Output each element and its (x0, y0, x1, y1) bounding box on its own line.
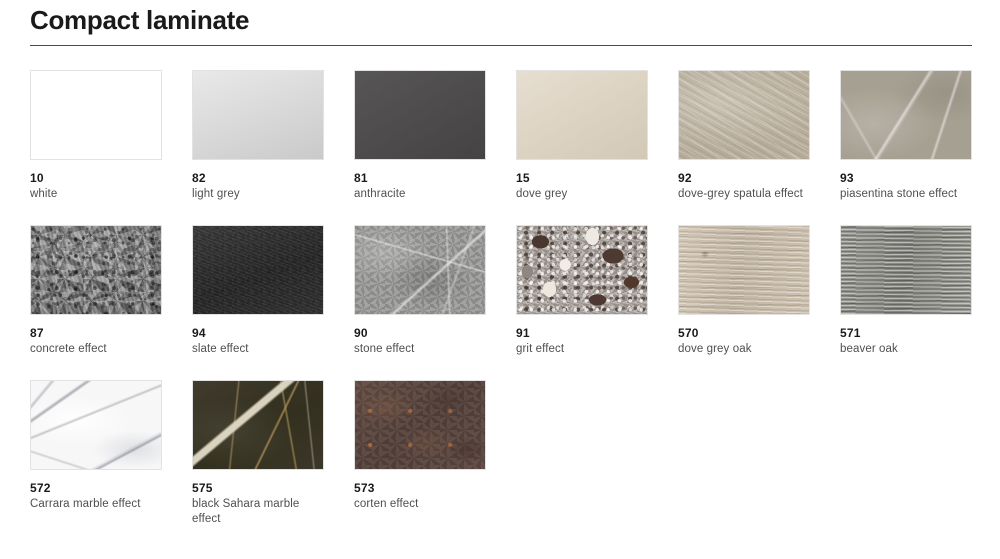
swatch-texture (31, 226, 161, 314)
swatch-cell[interactable]: 92dove-grey spatula effect (678, 70, 828, 202)
swatch-sample[interactable] (354, 380, 486, 470)
swatch-texture (31, 71, 161, 159)
swatch-texture (679, 71, 809, 159)
swatch-sample[interactable] (678, 225, 810, 315)
swatch-code: 571 (840, 326, 990, 340)
swatch-cell[interactable]: 570dove grey oak (678, 225, 828, 357)
swatch-sample[interactable] (192, 225, 324, 315)
swatch-code: 575 (192, 481, 324, 495)
swatch-cell[interactable]: 10white (30, 70, 162, 202)
swatch-texture (193, 71, 323, 159)
swatch-name: dove grey oak (678, 342, 828, 357)
swatch-code: 570 (678, 326, 828, 340)
swatch-texture (841, 71, 971, 159)
page-header: Compact laminate (30, 4, 972, 46)
swatch-texture (355, 381, 485, 469)
swatch-sample[interactable] (30, 225, 162, 315)
swatch-cell[interactable]: 87concrete effect (30, 225, 162, 357)
swatch-sample[interactable] (678, 70, 810, 160)
swatch-row-3: 572Carrara marble effect575black Sahara … (30, 380, 980, 540)
swatch-code: 94 (192, 326, 324, 340)
swatch-name: black Sahara marble effect (192, 497, 324, 527)
swatch-code: 81 (354, 171, 486, 185)
swatch-name: white (30, 187, 162, 202)
swatch-texture (517, 226, 647, 314)
page-title: Compact laminate (30, 4, 972, 45)
swatch-cell[interactable]: 15dove grey (516, 70, 648, 202)
swatch-texture (679, 226, 809, 314)
swatch-code: 90 (354, 326, 486, 340)
swatch-row-1: 10white82light grey81anthracite15dove gr… (30, 70, 980, 225)
swatch-texture (517, 71, 647, 159)
swatch-cell[interactable]: 93piasentina stone effect (840, 70, 990, 202)
swatch-code: 93 (840, 171, 990, 185)
swatch-name: grit effect (516, 342, 648, 357)
swatch-sample[interactable] (840, 70, 972, 160)
swatch-sample[interactable] (516, 225, 648, 315)
swatch-name: light grey (192, 187, 324, 202)
swatch-cell[interactable]: 82light grey (192, 70, 324, 202)
swatch-cell[interactable]: 94slate effect (192, 225, 324, 357)
swatch-texture (193, 381, 323, 469)
swatch-cell[interactable]: 571beaver oak (840, 225, 990, 357)
swatch-sample[interactable] (192, 70, 324, 160)
swatch-sample[interactable] (840, 225, 972, 315)
swatch-cell[interactable]: 573corten effect (354, 380, 486, 512)
swatch-name: dove grey (516, 187, 648, 202)
swatch-cell[interactable]: 90stone effect (354, 225, 486, 357)
swatch-name: beaver oak (840, 342, 990, 357)
swatch-cell[interactable]: 91grit effect (516, 225, 648, 357)
swatch-name: piasentina stone effect (840, 187, 990, 202)
swatch-code: 82 (192, 171, 324, 185)
swatch-sample[interactable] (354, 225, 486, 315)
title-divider (30, 45, 972, 46)
swatch-name: corten effect (354, 497, 486, 512)
swatch-name: slate effect (192, 342, 324, 357)
swatch-texture (355, 226, 485, 314)
swatch-code: 573 (354, 481, 486, 495)
swatch-code: 87 (30, 326, 162, 340)
swatch-sample[interactable] (30, 380, 162, 470)
swatch-name: dove-grey spatula effect (678, 187, 828, 202)
swatch-name: concrete effect (30, 342, 162, 357)
swatch-sample[interactable] (192, 380, 324, 470)
swatch-code: 10 (30, 171, 162, 185)
swatch-code: 92 (678, 171, 828, 185)
swatch-cell[interactable]: 572Carrara marble effect (30, 380, 162, 512)
swatch-cell[interactable]: 575black Sahara marble effect (192, 380, 324, 527)
swatch-grid: 10white82light grey81anthracite15dove gr… (30, 70, 980, 540)
swatch-name: Carrara marble effect (30, 497, 162, 512)
swatch-sample[interactable] (516, 70, 648, 160)
swatch-row-2: 87concrete effect94slate effect90stone e… (30, 225, 980, 380)
swatch-sample[interactable] (354, 70, 486, 160)
swatch-texture (31, 381, 161, 469)
swatch-code: 15 (516, 171, 648, 185)
swatch-name: anthracite (354, 187, 486, 202)
swatch-sample[interactable] (30, 70, 162, 160)
swatch-texture (193, 226, 323, 314)
swatch-name: stone effect (354, 342, 486, 357)
compact-laminate-page: Compact laminate 10white82light grey81an… (0, 0, 1000, 559)
swatch-cell[interactable]: 81anthracite (354, 70, 486, 202)
swatch-code: 572 (30, 481, 162, 495)
swatch-texture (841, 226, 971, 314)
swatch-texture (355, 71, 485, 159)
swatch-code: 91 (516, 326, 648, 340)
